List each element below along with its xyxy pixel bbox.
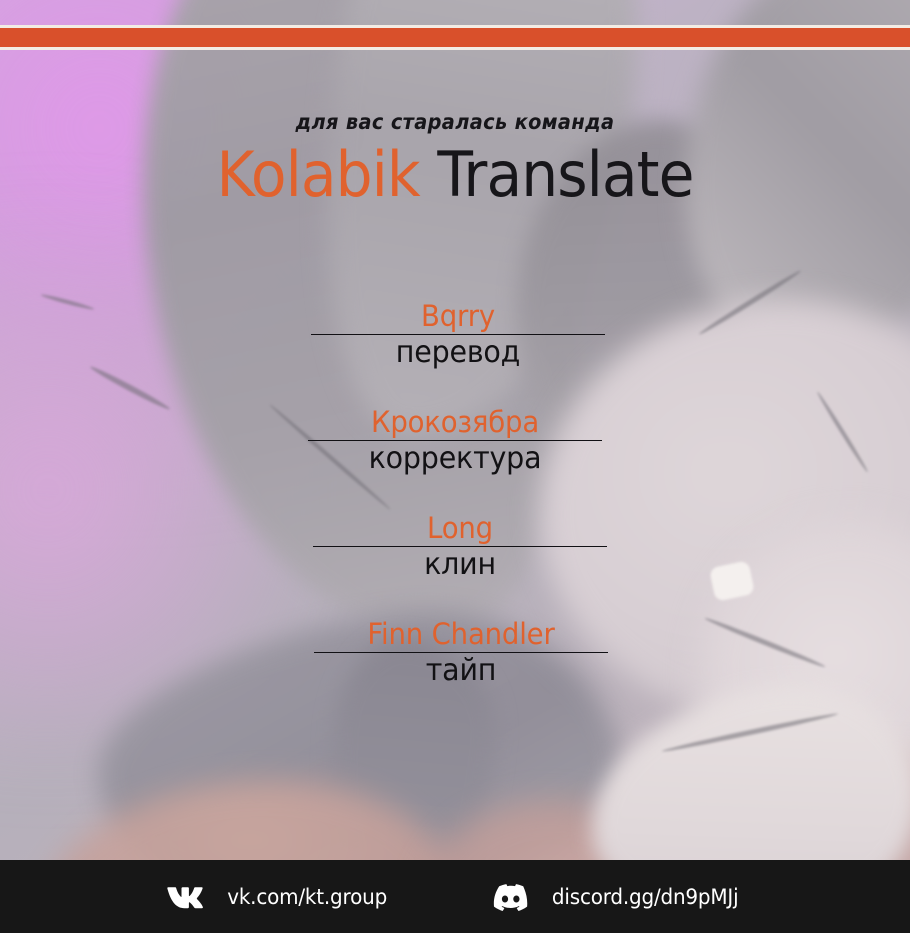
credit-entry: Finn Chandler тайп [314,618,608,689]
discord-link[interactable]: discord.gg/dn9pMJj [491,882,743,912]
credit-name: Long [320,512,599,544]
vk-link[interactable]: vk.com/kt.group [167,882,391,912]
credit-role: корректура [315,442,594,477]
top-accent-band [0,0,910,52]
discord-icon [491,882,531,912]
page-title: Kolabik Translate [27,142,882,207]
credit-role: тайп [321,654,600,689]
brand-name-spacer [420,138,438,211]
brand-name-secondary: Translate [437,138,693,211]
credit-role: перевод [318,336,597,371]
brand-name-primary: Kolabik [216,138,419,211]
credit-name: Крокозябра [315,406,594,438]
footer: vk.com/kt.group discord.gg/dn9pMJj [0,860,910,933]
vk-icon [167,882,207,912]
credit-entry: Крокозябра корректура [308,406,602,477]
orange-band [0,28,910,47]
header: для вас старалась команда Kolabik Transl… [0,110,910,207]
credit-name: Bqrry [318,300,597,332]
credit-entry: Long клин [313,512,607,583]
band-hairline-bottom [0,47,910,50]
credit-name: Finn Chandler [321,618,600,650]
vk-link-label: vk.com/kt.group [227,885,387,909]
credit-role: клин [320,548,599,583]
credits-page: для вас старалась команда Kolabik Transl… [0,0,910,933]
credits-list: Bqrry перевод Крокозябра корректура Long… [0,300,910,724]
tagline: для вас старалась команда [36,110,873,134]
discord-link-label: discord.gg/dn9pMJj [552,885,739,909]
credit-entry: Bqrry перевод [311,300,605,371]
